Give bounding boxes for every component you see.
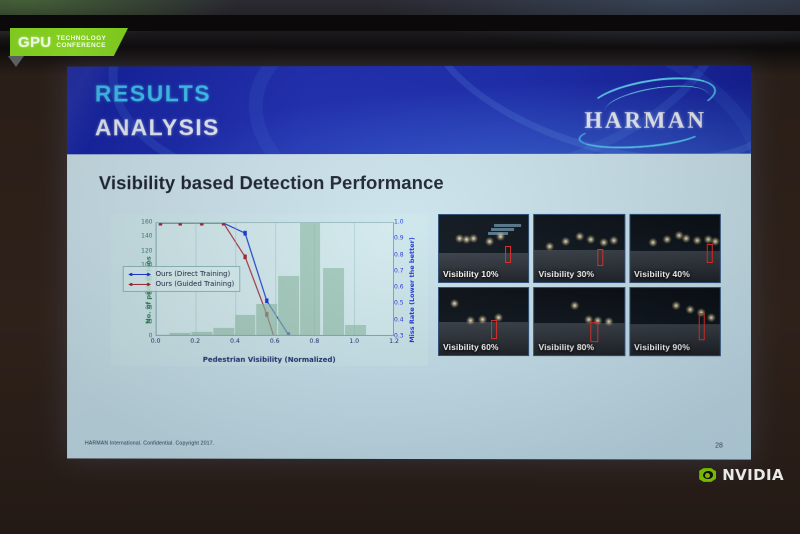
projected-slide: RESULTS ANALYSIS HARMAN Visibility based… xyxy=(67,65,751,459)
series-marker xyxy=(265,298,268,303)
y-tick-right: 0.4 xyxy=(394,316,404,323)
street-light-glow xyxy=(570,301,579,310)
street-light-glow xyxy=(496,232,505,241)
x-axis-title: Pedestrian Visibility (Normalized) xyxy=(111,356,428,364)
pedestrian-bounding-box xyxy=(491,320,497,339)
x-tick: 0.8 xyxy=(309,338,319,345)
histogram-bar xyxy=(278,276,299,335)
y-tick-right: 0.5 xyxy=(394,300,404,307)
pedestrian-bounding-box xyxy=(707,244,712,263)
thumb-caption: Visibility 80% xyxy=(538,342,594,352)
nvidia-logo: NVIDIA xyxy=(699,466,784,484)
nvidia-wordmark: NVIDIA xyxy=(722,466,784,484)
y-tick-left: 40 xyxy=(145,304,153,311)
thumb-caption: Visibility 10% xyxy=(443,269,499,279)
visibility-sample-thumb: Visibility 80% xyxy=(533,287,625,356)
visibility-sample-thumb: Visibility 10% xyxy=(438,214,529,283)
x-tick: 0.4 xyxy=(230,338,240,345)
thumb-caption: Visibility 30% xyxy=(538,269,594,279)
building-window xyxy=(494,224,521,227)
y-tick-right: 0.8 xyxy=(394,251,404,258)
gtc-ribbon-gpu-text: GPU xyxy=(18,34,51,51)
series-marker xyxy=(159,223,162,225)
street-light-glow xyxy=(707,314,716,323)
chart-legend: Ours (Direct Training) Ours (Guided Trai… xyxy=(123,266,241,292)
visibility-sample-thumb: Visibility 30% xyxy=(533,214,625,283)
histogram-bar xyxy=(191,332,212,335)
street-light-glow xyxy=(466,316,475,325)
y-axis-right: 0.30.40.50.60.70.80.91.0 xyxy=(394,222,420,336)
street-light-glow xyxy=(561,237,570,246)
street-light-glow xyxy=(485,237,494,246)
histogram-bar xyxy=(213,328,234,335)
slide-footer: HARMAN International. Confidential. Copy… xyxy=(85,440,214,446)
building-window xyxy=(491,228,514,231)
x-tick: 1.0 xyxy=(349,338,359,345)
legend-label-guided: Ours (Guided Training) xyxy=(156,280,235,288)
y-axis-right-title: Miss Rate (Lower the better) xyxy=(408,230,416,350)
series-marker xyxy=(243,231,246,236)
nvidia-eye-icon xyxy=(699,468,716,483)
slide-body: Visibility based Detection Performance N… xyxy=(67,154,751,460)
series-marker xyxy=(243,254,246,259)
page-title: Visibility based Detection Performance xyxy=(99,172,444,194)
pedestrian-bounding-box xyxy=(590,322,598,342)
visibility-sample-thumb: Visibility 60% xyxy=(438,287,529,356)
histogram-bar xyxy=(345,324,366,335)
visibility-sample-thumb: Visibility 40% xyxy=(629,214,721,283)
histogram-bar xyxy=(300,223,321,335)
y-tick-right: 0.6 xyxy=(394,284,404,291)
slide-section-eyebrow: RESULTS xyxy=(95,80,211,107)
x-tick: 0.6 xyxy=(270,338,280,345)
street-light-glow xyxy=(450,299,459,308)
slide-section-title: ANALYSIS xyxy=(95,114,220,141)
y-tick-left: 140 xyxy=(141,233,152,240)
gtc-ribbon-subtext: TECHNOLOGY CONFERENCE xyxy=(56,35,106,50)
legend-swatch-direct-icon xyxy=(129,273,151,274)
x-axis: 0.00.20.40.60.81.01.2 xyxy=(156,338,394,350)
histogram-bar xyxy=(323,268,344,335)
street-light-glow xyxy=(648,238,657,247)
series-marker xyxy=(179,223,182,225)
gtc-ribbon-line1: TECHNOLOGY xyxy=(56,35,106,42)
visibility-sample-grid: Visibility 10%Visibility 30%Visibility 4… xyxy=(438,214,721,356)
series-marker xyxy=(222,223,225,225)
slide-page-number: 28 xyxy=(715,442,723,449)
x-tick: 0.2 xyxy=(190,338,200,345)
y-tick-left: 160 xyxy=(141,219,152,226)
y-tick-right: 1.0 xyxy=(394,219,404,226)
street-light-glow xyxy=(682,234,691,243)
x-tick: 0.0 xyxy=(151,338,161,345)
x-tick: 1.2 xyxy=(389,338,399,345)
y-tick-left: 20 xyxy=(145,318,153,325)
thumb-caption: Visibility 60% xyxy=(443,342,499,352)
pedestrian-bounding-box xyxy=(698,314,704,341)
legend-swatch-guided-icon xyxy=(129,283,151,284)
gtc-ribbon-line2: CONFERENCE xyxy=(56,42,106,49)
street-light-glow xyxy=(576,232,585,241)
thumb-caption: Visibility 40% xyxy=(634,269,690,279)
down-triangle-icon xyxy=(8,56,24,67)
legend-item-guided: Ours (Guided Training) xyxy=(129,280,235,288)
street-light-glow xyxy=(693,236,702,245)
gtc-conference-ribbon: GPU TECHNOLOGY CONFERENCE xyxy=(10,28,128,56)
street-light-glow xyxy=(686,306,695,315)
pedestrian-bounding-box xyxy=(597,248,603,265)
grid-line xyxy=(354,223,355,335)
histogram-bar xyxy=(235,315,256,335)
series-marker xyxy=(200,223,203,225)
street-light-glow xyxy=(545,242,554,251)
y-tick-right: 0.9 xyxy=(394,235,404,242)
harman-wordmark: HARMAN xyxy=(560,108,731,134)
pedestrian-bounding-box xyxy=(505,246,511,263)
street-light-glow xyxy=(662,235,671,244)
detection-performance-chart: No. of pedestrians 020406080100120140160… xyxy=(111,214,428,366)
street-light-glow xyxy=(599,238,608,247)
visibility-sample-thumb: Visibility 90% xyxy=(629,287,721,356)
y-tick-right: 0.7 xyxy=(394,267,404,274)
histogram-bar xyxy=(256,304,277,335)
street-light-glow xyxy=(469,234,478,243)
y-tick-left: 120 xyxy=(141,247,152,254)
slide-header-band: RESULTS ANALYSIS HARMAN xyxy=(67,65,751,154)
street-light-glow xyxy=(586,235,595,244)
harman-logo: HARMAN xyxy=(560,86,731,144)
legend-item-direct: Ours (Direct Training) xyxy=(129,270,235,278)
thumb-caption: Visibility 90% xyxy=(634,342,690,352)
street-light-glow xyxy=(671,301,680,310)
street-light-glow xyxy=(610,236,619,245)
legend-label-direct: Ours (Direct Training) xyxy=(156,270,231,278)
histogram-bar xyxy=(170,333,191,335)
